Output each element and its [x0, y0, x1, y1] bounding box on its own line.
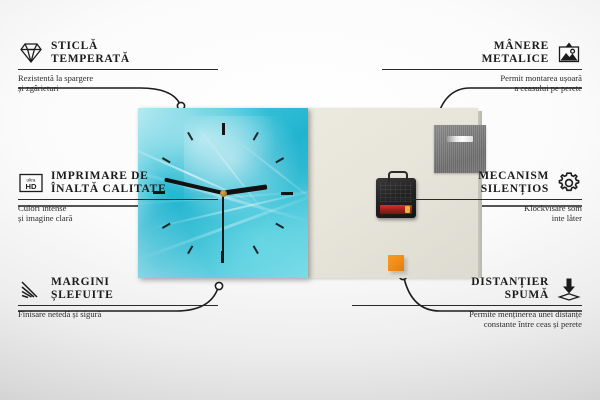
feature-polished-edges: MARGINI ȘLEFUITE Finisare netedă și sigu…: [18, 276, 218, 319]
diamond-icon: [18, 40, 44, 66]
feature-header: ultra HD IMPRIMARE DE ÎNALTĂ CALITATE: [18, 170, 218, 196]
feature-rule: [18, 199, 218, 200]
feature-rule: [352, 305, 582, 306]
feature-header: MARGINI ȘLEFUITE: [18, 276, 218, 302]
feature-rule: [18, 305, 218, 306]
feature-description: Culori intense și imagine clară: [18, 203, 218, 223]
feature-description: Klockvisare som inte låter: [382, 203, 582, 223]
feature-metal-handles: MÂNERE METALICE Permit montarea ușoară a…: [382, 40, 582, 93]
foam-spacer-square: [388, 255, 404, 271]
metal-hanger-plate: [434, 125, 486, 173]
feature-title: MECANISM SILENȚIOS: [478, 170, 549, 195]
feature-silent-mechanism: MECANISM SILENȚIOS Klockvisare som inte …: [382, 170, 582, 223]
feature-title: IMPRIMARE DE ÎNALTĂ CALITATE: [51, 170, 166, 195]
feature-title: DISTANȚIER SPUMĂ: [471, 276, 549, 301]
feature-description: Permit montarea ușoară a ceasului pe per…: [382, 73, 582, 93]
feature-description: Rezistentă la spargere și zgârieturi: [18, 73, 218, 93]
diagonal-lines-icon: [18, 276, 44, 302]
feature-header: MECANISM SILENȚIOS: [382, 170, 582, 196]
feature-title: MÂNERE METALICE: [482, 40, 549, 65]
feature-title: MARGINI ȘLEFUITE: [51, 276, 113, 301]
feature-rule: [18, 69, 218, 70]
feature-description: Finisare netedă și sigură: [18, 309, 218, 319]
svg-text:HD: HD: [26, 182, 37, 191]
feature-header: DISTANȚIER SPUMĂ: [352, 276, 582, 302]
feature-rule: [382, 199, 582, 200]
ultra-hd-icon: ultra HD: [18, 170, 44, 196]
infographic-canvas: STICLĂ TEMPERATĂ Rezistentă la spargere …: [0, 0, 600, 400]
feature-title: STICLĂ TEMPERATĂ: [51, 40, 130, 65]
feature-rule: [382, 69, 582, 70]
clock-center-cap: [220, 190, 227, 197]
feature-foam-spacer: DISTANȚIER SPUMĂ Permite menținerea unei…: [352, 276, 582, 329]
arrow-down-layer-icon: [556, 276, 582, 302]
feature-print-quality: ultra HD IMPRIMARE DE ÎNALTĂ CALITATE Cu…: [18, 170, 218, 223]
hanging-frame-icon: [556, 40, 582, 66]
hanger-slot: [447, 136, 473, 142]
feature-header: MÂNERE METALICE: [382, 40, 582, 66]
feature-description: Permite menținerea unei distanțe constan…: [352, 309, 582, 329]
clock-tick: [222, 123, 224, 193]
feature-tempered-glass: STICLĂ TEMPERATĂ Rezistentă la spargere …: [18, 40, 218, 93]
clock-second-hand: [222, 193, 224, 259]
gear-icon: [556, 170, 582, 196]
feature-header: STICLĂ TEMPERATĂ: [18, 40, 218, 66]
